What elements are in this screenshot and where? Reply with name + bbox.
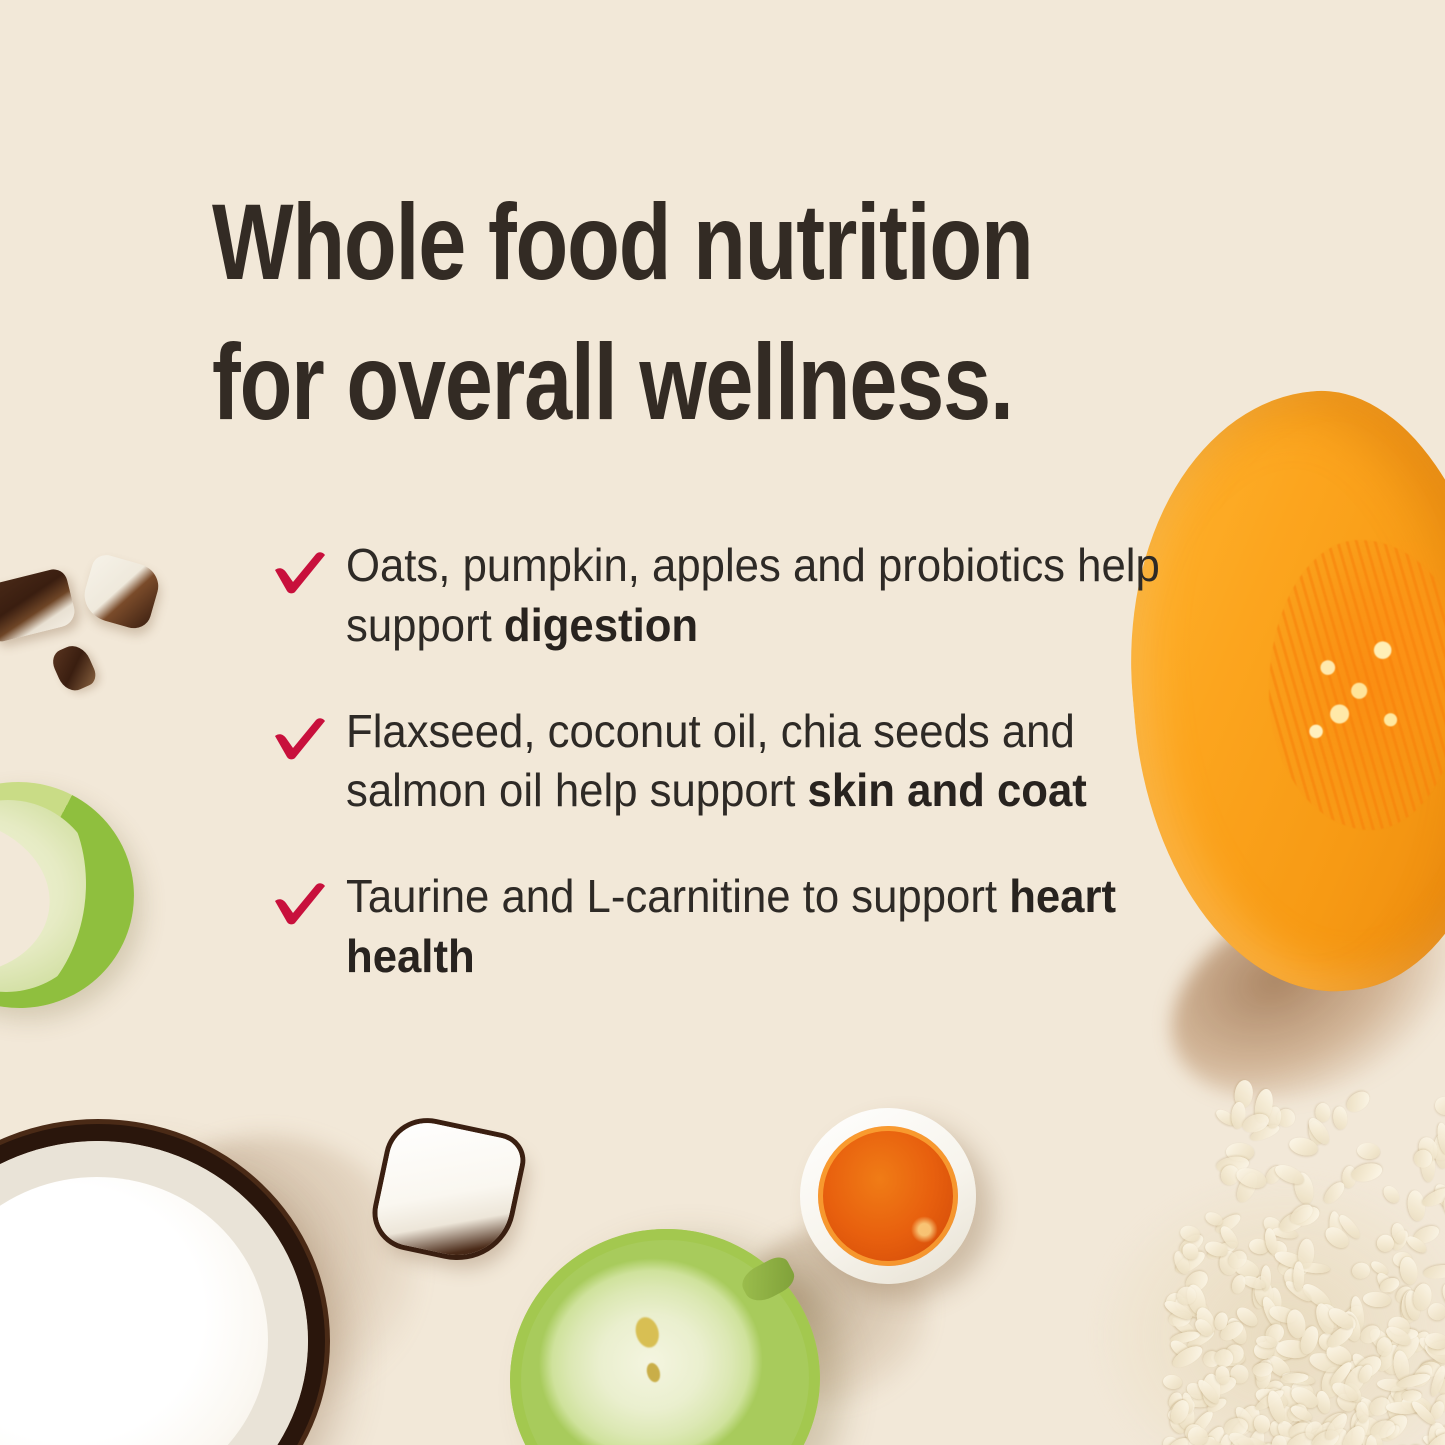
list-item: Oats, pumpkin, apples and probiotics hel… [272, 536, 1192, 656]
check-icon [272, 716, 328, 760]
list-item: Taurine and L-carnitine to support heart… [272, 867, 1192, 987]
coconut-chunk-photo [79, 552, 164, 633]
oat-flake [1356, 1142, 1381, 1160]
oat-flake [1162, 1374, 1183, 1391]
oat-flake [1422, 1263, 1445, 1280]
oat-flake [1433, 1094, 1445, 1117]
benefit-text-regular: Oats, pumpkin, apples and probiotics hel… [346, 539, 1160, 651]
oat-flake [1333, 1106, 1349, 1130]
oat-flake [1398, 1255, 1419, 1285]
oat-flake [1293, 1261, 1304, 1291]
oat-flake [1343, 1087, 1373, 1115]
oat-flake [1351, 1262, 1371, 1281]
list-item-text: Oats, pumpkin, apples and probiotics hel… [346, 536, 1190, 656]
rolled-oats-pile-photo [1091, 1085, 1445, 1445]
coconut-chunk-photo [49, 641, 100, 696]
salmon-oil-liquid [818, 1126, 958, 1266]
check-icon [272, 550, 328, 594]
check-icon [272, 881, 328, 925]
promo-banner: Whole food nutrition for overall wellnes… [0, 0, 1445, 1445]
list-item-text: Flaxseed, coconut oil, chia seeds and sa… [346, 702, 1190, 822]
list-item: Flaxseed, coconut oil, chia seeds and sa… [272, 702, 1192, 822]
page-title: Whole food nutrition for overall wellnes… [212, 172, 1060, 453]
oat-flake [1362, 1291, 1391, 1308]
benefit-list: Oats, pumpkin, apples and probiotics hel… [272, 536, 1192, 987]
benefit-text-bold: digestion [504, 599, 698, 651]
oat-flake [1380, 1183, 1402, 1206]
list-item-text: Taurine and L-carnitine to support heart… [346, 867, 1190, 987]
benefit-text-regular: Taurine and L-carnitine to support [346, 870, 1009, 922]
coconut-chunk-photo [0, 566, 78, 643]
benefit-text-bold: skin and coat [808, 764, 1087, 816]
